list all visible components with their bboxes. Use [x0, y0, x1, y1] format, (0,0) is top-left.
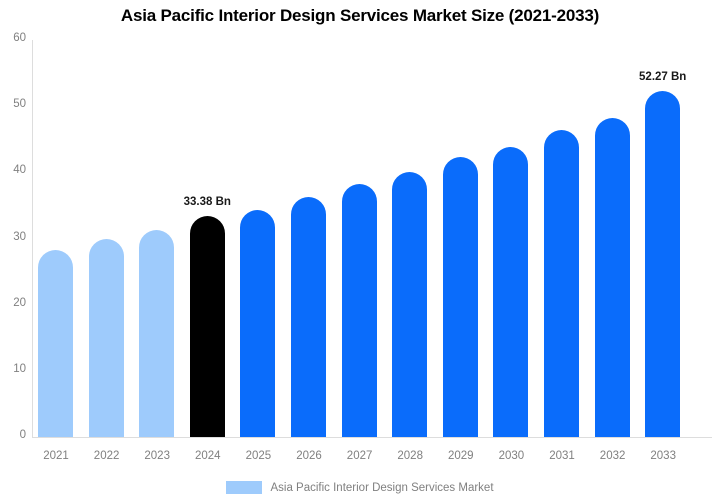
x-axis-tick-2033: 2033	[638, 450, 688, 462]
bar-2022[interactable]	[89, 239, 124, 437]
y-axis-tick-50: 50	[0, 98, 26, 110]
x-axis-tick-2023: 2023	[132, 450, 182, 462]
y-axis-tick-40: 40	[0, 164, 26, 176]
x-axis-tick-2026: 2026	[284, 450, 334, 462]
y-axis-line	[32, 40, 33, 438]
x-axis-line	[32, 437, 712, 438]
x-axis-tick-2021: 2021	[31, 450, 81, 462]
bar-2029[interactable]	[443, 157, 478, 437]
bar-2030[interactable]	[493, 147, 528, 437]
bar-2025[interactable]	[240, 210, 275, 437]
x-axis-tick-2022: 2022	[82, 450, 132, 462]
y-axis-tick-60: 60	[0, 32, 26, 44]
x-axis-tick-2032: 2032	[588, 450, 638, 462]
bar-2027[interactable]	[342, 184, 377, 437]
chart-legend: Asia Pacific Interior Design Services Ma…	[0, 481, 720, 494]
y-axis-tick-0: 0	[0, 429, 26, 441]
plot-area: 0102030405060 20212022202320242025202620…	[0, 0, 720, 500]
x-axis-tick-2024: 2024	[183, 450, 233, 462]
y-axis-tick-10: 10	[0, 363, 26, 375]
chart-container: Asia Pacific Interior Design Services Ma…	[0, 0, 720, 500]
y-axis-tick-30: 30	[0, 231, 26, 243]
legend-label: Asia Pacific Interior Design Services Ma…	[270, 482, 493, 494]
bar-2031[interactable]	[544, 130, 579, 437]
data-label-2024: 33.38 Bn	[162, 196, 252, 208]
x-axis-tick-2031: 2031	[537, 450, 587, 462]
y-axis-tick-20: 20	[0, 297, 26, 309]
data-label-2033: 52.27 Bn	[618, 71, 708, 83]
x-axis-tick-2029: 2029	[436, 450, 486, 462]
x-axis-tick-2028: 2028	[385, 450, 435, 462]
bar-2026[interactable]	[291, 197, 326, 437]
bar-2033[interactable]	[645, 91, 680, 437]
x-axis-tick-2030: 2030	[486, 450, 536, 462]
bar-2023[interactable]	[139, 230, 174, 437]
bar-2032[interactable]	[595, 118, 630, 437]
bar-2024[interactable]	[190, 216, 225, 437]
bar-2028[interactable]	[392, 172, 427, 437]
x-axis-tick-2025: 2025	[233, 450, 283, 462]
bar-2021[interactable]	[38, 250, 73, 437]
legend-swatch-icon	[226, 481, 262, 494]
x-axis-tick-2027: 2027	[335, 450, 385, 462]
